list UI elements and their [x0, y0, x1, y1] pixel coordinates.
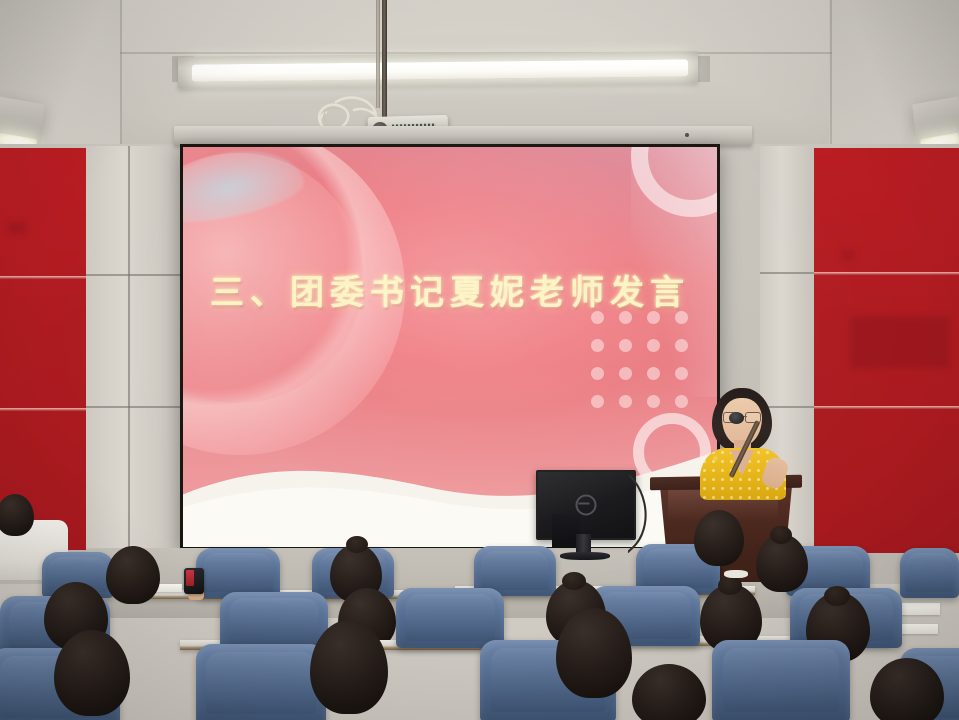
column-seam	[128, 146, 130, 552]
slide-decor-dot-grid	[583, 303, 695, 415]
audience-hair-bun	[346, 536, 368, 553]
seat[interactable]	[396, 588, 504, 648]
dell-logo-icon	[576, 495, 597, 516]
ceiling-seam	[120, 0, 122, 152]
housing-indicator-dot	[685, 133, 689, 137]
hair-tie	[724, 570, 748, 578]
smartphone[interactable]	[184, 568, 204, 594]
seat[interactable]	[196, 548, 280, 598]
wall-seam	[812, 406, 959, 409]
microphone-head	[729, 412, 744, 424]
audience-head	[556, 608, 632, 698]
wall-seam	[812, 272, 959, 275]
wall-seam	[0, 276, 86, 279]
ceiling-seam	[830, 0, 832, 152]
audience-hair-bun	[824, 586, 850, 606]
seat[interactable]	[220, 592, 328, 652]
seat[interactable]	[900, 548, 959, 598]
wall-mark	[8, 222, 26, 234]
seat[interactable]	[196, 644, 326, 720]
column-seam	[86, 274, 181, 276]
projection-screen-housing	[174, 126, 752, 146]
wall-column-left	[86, 146, 181, 552]
audience-hair-bun	[562, 572, 586, 590]
audience-head	[310, 620, 388, 714]
audience-head	[54, 630, 130, 716]
slide-title: 三、团委书记夏妮老师发言	[183, 265, 717, 314]
audience-head	[632, 664, 706, 720]
speaker-person	[690, 388, 800, 488]
audience-hair-bun	[718, 576, 742, 595]
wall-seam	[0, 408, 86, 411]
audience-hair-bun	[770, 526, 792, 544]
column-seam	[760, 272, 814, 274]
audience-head	[694, 510, 744, 566]
audience-head-photographer	[106, 546, 160, 604]
wall-panel-red-left	[0, 148, 86, 550]
column-seam	[86, 406, 181, 408]
wall-mark	[842, 250, 854, 260]
seat[interactable]	[712, 640, 850, 720]
monitor-stand-base	[560, 552, 610, 560]
desktop-monitor[interactable]	[536, 470, 636, 540]
wall-mark	[850, 316, 950, 368]
lecture-hall-photo: 三、团委书记夏妮老师发言	[0, 0, 959, 720]
